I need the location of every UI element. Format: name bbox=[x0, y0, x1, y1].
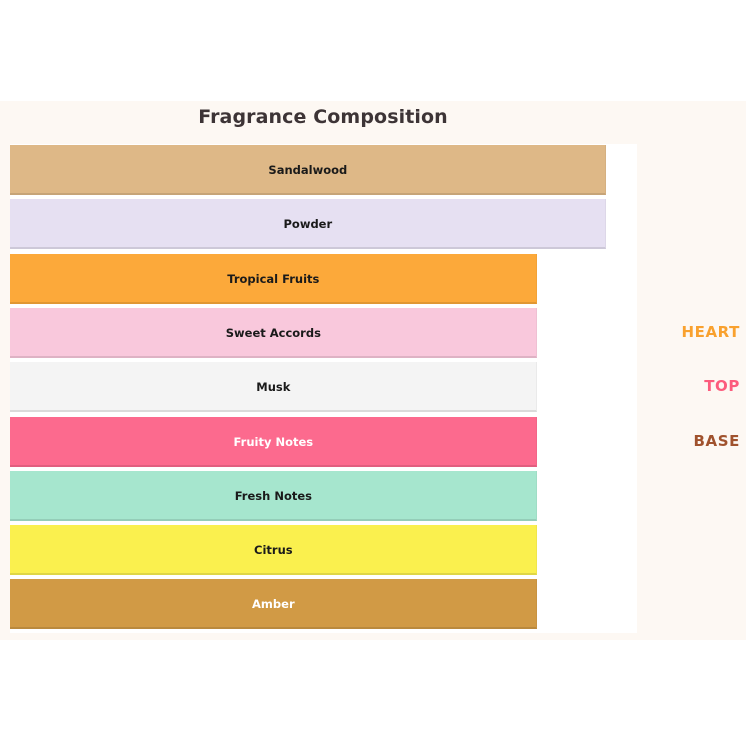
plot-area: SandalwoodPowderTropical FruitsSweet Acc… bbox=[10, 144, 637, 633]
bar-row: Sandalwood bbox=[10, 145, 637, 195]
bar-row: Tropical Fruits bbox=[10, 254, 637, 304]
bar-row: Powder bbox=[10, 199, 637, 249]
chart-figure: Fragrance Composition SandalwoodPowderTr… bbox=[0, 101, 746, 640]
bar-citrus[interactable] bbox=[10, 525, 537, 575]
legend-item-heart[interactable]: HEART bbox=[681, 323, 740, 341]
bar-fresh-notes[interactable] bbox=[10, 471, 537, 521]
bar-tropical-fruits[interactable] bbox=[10, 254, 537, 304]
bar-musk[interactable] bbox=[10, 362, 537, 412]
legend-item-base[interactable]: BASE bbox=[694, 432, 741, 450]
bar-row: Fruity Notes bbox=[10, 417, 637, 467]
bar-row: Sweet Accords bbox=[10, 308, 637, 358]
bar-row: Musk bbox=[10, 362, 637, 412]
bar-row: Amber bbox=[10, 579, 637, 629]
bar-powder[interactable] bbox=[10, 199, 606, 249]
bar-row: Fresh Notes bbox=[10, 471, 637, 521]
bar-row: Citrus bbox=[10, 525, 637, 575]
bar-sweet-accords[interactable] bbox=[10, 308, 537, 358]
bar-sandalwood[interactable] bbox=[10, 145, 606, 195]
bar-amber[interactable] bbox=[10, 579, 537, 629]
bar-fruity-notes[interactable] bbox=[10, 417, 537, 467]
legend-item-top[interactable]: TOP bbox=[704, 377, 740, 395]
chart-title: Fragrance Composition bbox=[0, 106, 646, 128]
